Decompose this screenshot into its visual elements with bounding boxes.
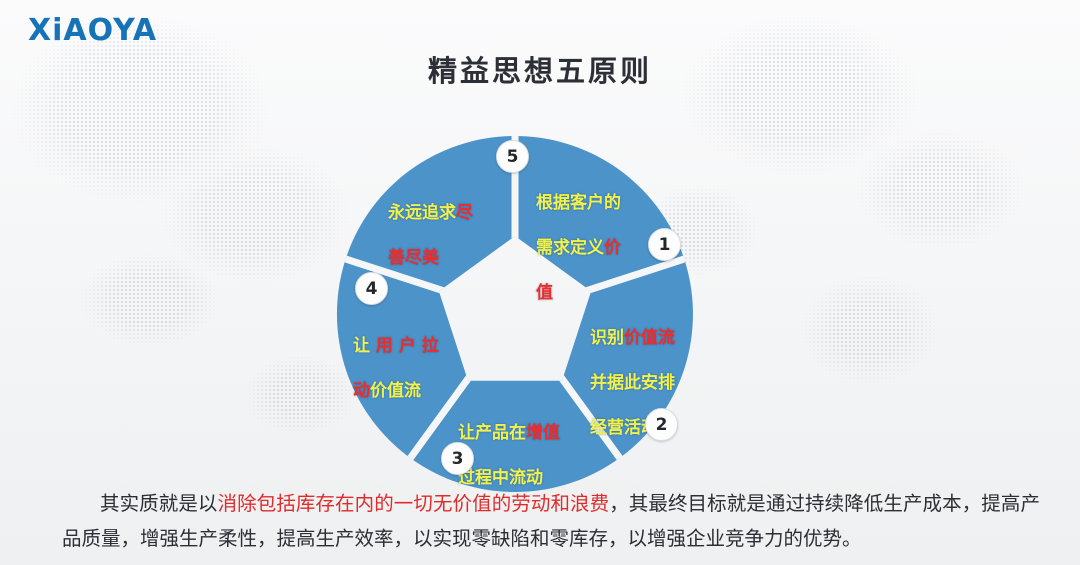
segment-3-label: 让产品在增值 过程中流动 bbox=[458, 400, 588, 490]
five-principles-wheel: 根据客户的 需求定义价 值 识别价值流 并据此安排 经营活动 让产品在增值 过程… bbox=[318, 120, 718, 500]
caption-highlight: 消除包括库存在内的一切无价值的劳动和浪费 bbox=[218, 492, 610, 515]
page-title: 精益思想五原则 bbox=[0, 48, 1080, 90]
segment-1-line2-yellow: 需求定义 bbox=[536, 238, 604, 258]
segment-4-label: 让 用 户 拉 动价值流 bbox=[353, 313, 473, 403]
segment-3-line1-yellow: 让产品在 bbox=[458, 423, 526, 443]
segment-1-line1: 根据客户的 bbox=[536, 193, 621, 213]
segment-4-line1-yellow: 让 bbox=[353, 336, 376, 356]
caption-paragraph: 其实质就是以消除包括库存在内的一切无价值的劳动和浪费，其最终目标就是通过持续降低… bbox=[62, 486, 1040, 556]
segment-5-label: 永远追求尽 善尽美 bbox=[388, 180, 508, 270]
segment-1-line3-red: 值 bbox=[536, 283, 553, 303]
segment-5-line1-red: 尽 bbox=[456, 203, 473, 223]
segment-4-line1-red: 用 户 拉 bbox=[376, 336, 439, 356]
segment-2-line1-yellow: 识别 bbox=[590, 328, 624, 348]
segment-5-line2-red: 善尽美 bbox=[388, 248, 439, 268]
segment-4-line2-red: 动 bbox=[353, 381, 370, 401]
segment-5-line1-yellow: 永远追求 bbox=[388, 203, 456, 223]
caption-part1: 其实质就是以 bbox=[100, 492, 218, 515]
segment-badge-5[interactable]: 5 bbox=[496, 140, 529, 173]
segment-badge-2[interactable]: 2 bbox=[645, 408, 678, 441]
segment-badge-4[interactable]: 4 bbox=[355, 272, 388, 305]
segment-2-line2: 并据此安排 bbox=[590, 373, 675, 393]
segment-badge-3[interactable]: 3 bbox=[441, 442, 474, 475]
brand-logo: XiAOYA bbox=[28, 13, 157, 48]
segment-3-line1-red: 增值 bbox=[526, 423, 560, 443]
segment-1-line2-red: 价 bbox=[604, 238, 621, 258]
segment-badge-1[interactable]: 1 bbox=[648, 228, 681, 261]
segment-2-line1-red: 价值流 bbox=[624, 328, 675, 348]
segment-4-line2-yellow: 价值流 bbox=[370, 381, 421, 401]
segment-1-label: 根据客户的 需求定义价 值 bbox=[536, 170, 646, 305]
